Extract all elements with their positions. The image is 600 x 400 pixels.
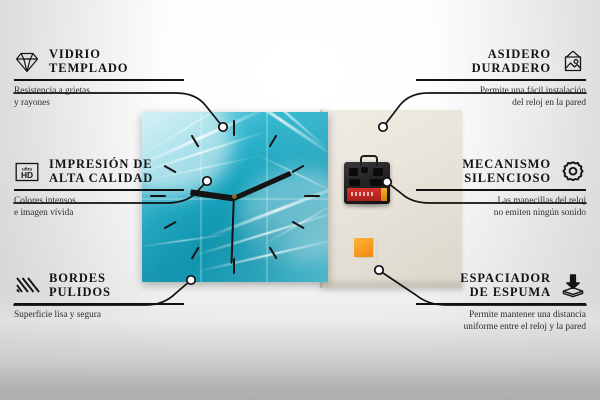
feature-description: Resistencia a grietas y rayones xyxy=(14,85,190,110)
feature-divider xyxy=(416,303,586,305)
feature-desc-line: e imagen vívida xyxy=(14,207,190,220)
feature-title-line: DE ESPUMA xyxy=(470,286,551,300)
feature-title-line: TEMPLADO xyxy=(49,62,128,76)
feature-impresion-alta-calidad: ultra HD IMPRESIÓN DE ALTA CALIDAD Color… xyxy=(14,158,190,220)
feature-desc-line: Superficie lisa y segura xyxy=(14,309,190,322)
battery-positive-cap xyxy=(381,188,387,201)
feature-desc-line: no emiten ningún sonido xyxy=(410,207,586,220)
feature-mecanismo-silencioso: MECANISMO SILENCIOSO Las manecillas del … xyxy=(410,158,586,220)
feature-description: Las manecillas del reloj no emiten ningú… xyxy=(410,195,586,220)
svg-text:HD: HD xyxy=(21,170,33,180)
mechanism-slot xyxy=(349,179,360,186)
feature-divider xyxy=(14,189,184,191)
feature-divider xyxy=(416,189,586,191)
feature-description: Superficie lisa y segura xyxy=(14,309,190,322)
feature-espaciador-de-espuma: ESPACIADOR DE ESPUMA Permite mantener un… xyxy=(410,272,586,334)
aa-battery xyxy=(347,188,387,201)
feature-asidero-duradero: ASIDERO DURADERO Permite una fácil insta… xyxy=(410,48,586,110)
feature-title-line: PULIDOS xyxy=(49,286,111,300)
foam-spacer xyxy=(354,238,373,257)
feature-desc-line: y rayones xyxy=(14,97,190,110)
feature-title-line: SILENCIOSO xyxy=(464,172,551,186)
feature-description: Colores intensos e imagen vívida xyxy=(14,195,190,220)
feature-desc-line: Permite mantener una distancia xyxy=(410,309,586,322)
polished-edges-icon xyxy=(14,273,40,299)
feature-desc-line: uniforme entre el reloj y la pared xyxy=(410,321,586,334)
mechanism-slot xyxy=(361,167,368,173)
infographic-stage: VIDRIO TEMPLADO Resistencia a grietas y … xyxy=(0,0,600,400)
diamond-icon xyxy=(14,49,40,75)
feature-desc-line: Permite una fácil instalación xyxy=(410,85,586,98)
feature-divider xyxy=(14,303,184,305)
feature-description: Permite una fácil instalación del reloj … xyxy=(410,85,586,110)
feature-desc-line: Las manecillas del reloj xyxy=(410,195,586,208)
feature-desc-line: del reloj en la pared xyxy=(410,97,586,110)
feature-desc-line: Colores intensos xyxy=(14,195,190,208)
feature-title-line: MECANISMO xyxy=(462,158,551,172)
feature-title-line: DURADERO xyxy=(472,62,551,76)
feature-desc-line: Resistencia a grietas xyxy=(14,85,190,98)
feature-description: Permite mantener una distancia uniforme … xyxy=(410,309,586,334)
feature-vidrio-templado: VIDRIO TEMPLADO Resistencia a grietas y … xyxy=(14,48,190,110)
battery-label-stripes xyxy=(351,192,375,196)
feature-title-line: ALTA CALIDAD xyxy=(49,172,153,186)
feature-title-line: ESPACIADOR xyxy=(460,272,551,286)
clock-center-pin xyxy=(232,194,237,199)
mechanism-hanger-tab xyxy=(360,155,378,166)
feature-title-line: BORDES xyxy=(49,272,111,286)
foam-spacer-side xyxy=(373,241,378,260)
ultra-hd-icon: ultra HD xyxy=(14,159,40,185)
mechanism-slot xyxy=(373,168,383,176)
feature-bordes-pulidos: BORDES PULIDOS Superficie lisa y segura xyxy=(14,272,190,321)
feature-divider xyxy=(416,79,586,81)
feature-divider xyxy=(14,79,184,81)
feature-title-line: VIDRIO xyxy=(49,48,128,62)
feature-title-line: IMPRESIÓN DE xyxy=(49,158,153,172)
wall-hanger-frame-icon xyxy=(560,49,586,75)
feature-title-line: ASIDERO xyxy=(488,48,551,62)
mechanism-slot xyxy=(370,179,382,186)
clock-mechanism xyxy=(344,162,390,204)
gear-icon xyxy=(560,159,586,185)
mechanism-slot xyxy=(349,168,358,176)
foam-spacer-arrow-icon xyxy=(560,273,586,299)
